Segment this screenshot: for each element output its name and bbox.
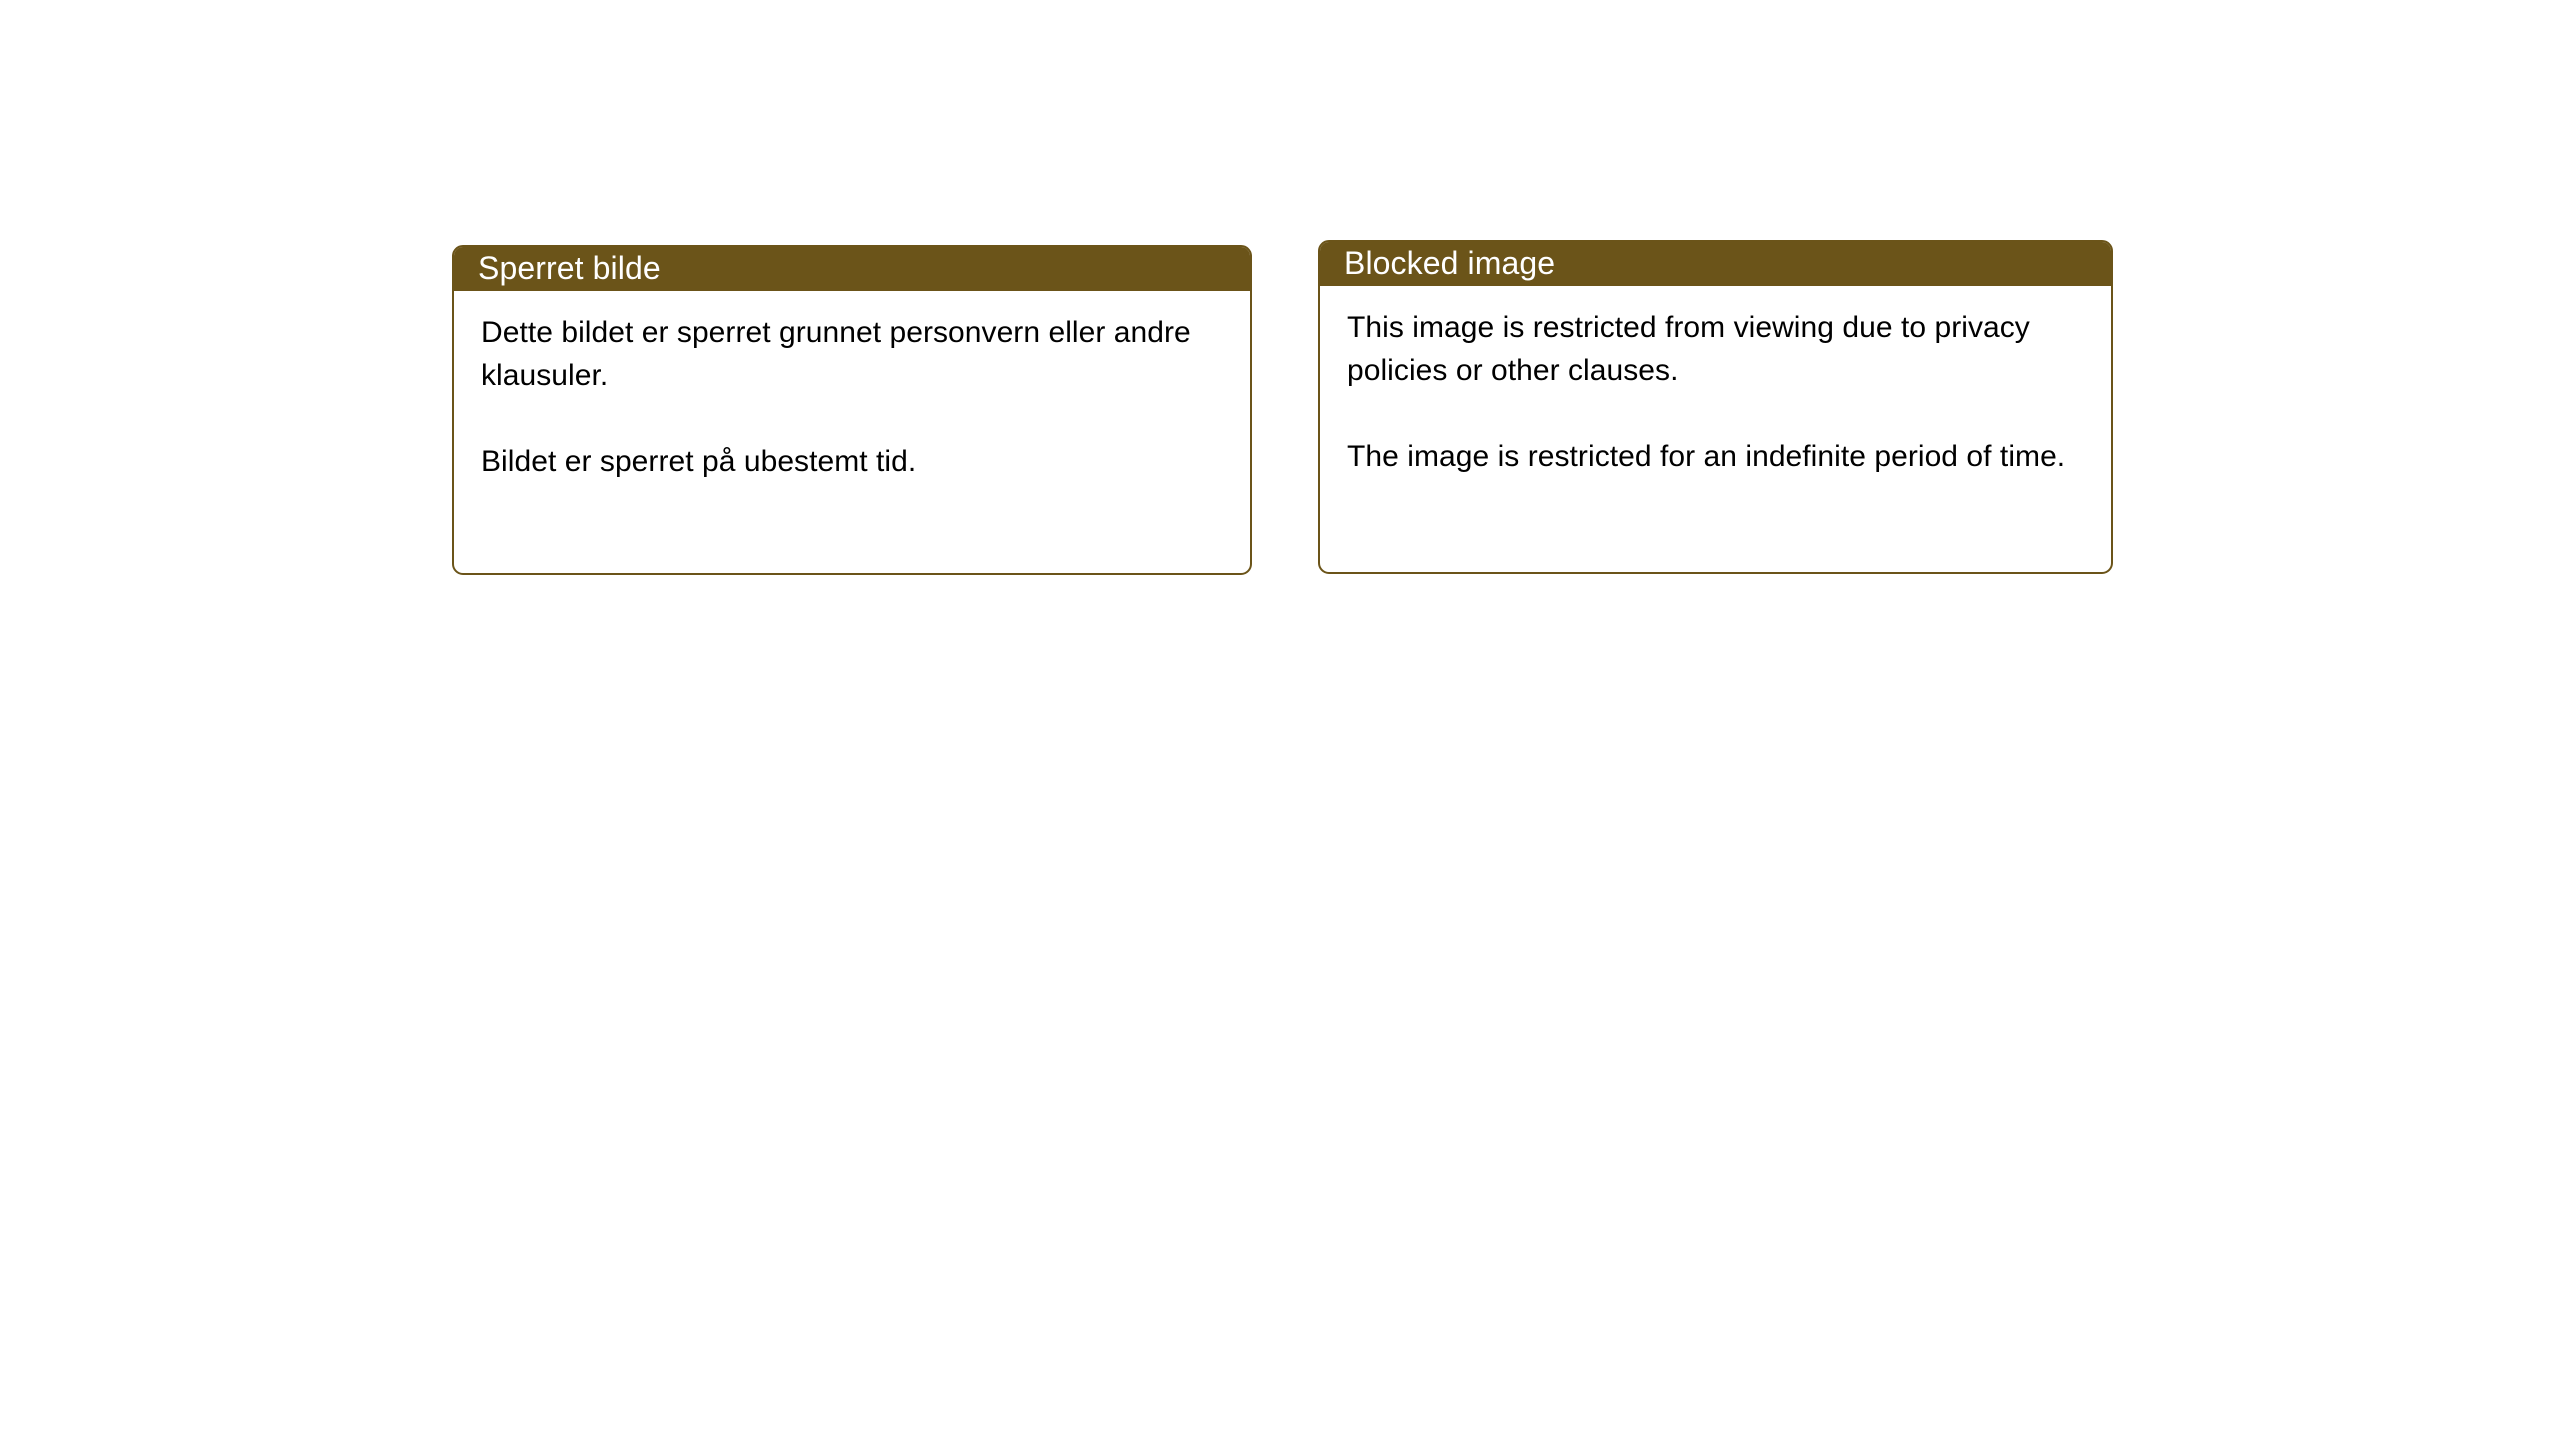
notice-body-norwegian: Dette bildet er sperret grunnet personve… [454,291,1250,483]
notice-paragraph-primary-norwegian: Dette bildet er sperret grunnet personve… [481,311,1226,397]
notice-paragraph-primary-english: This image is restricted from viewing du… [1347,306,2087,392]
notice-body-english: This image is restricted from viewing du… [1320,286,2111,478]
page-canvas: Sperret bilde Dette bildet er sperret gr… [0,0,2560,1440]
blocked-image-notice-norwegian: Sperret bilde Dette bildet er sperret gr… [452,245,1252,575]
notice-title-english: Blocked image [1344,246,1555,280]
notice-paragraph-secondary-english: The image is restricted for an indefinit… [1347,435,2087,478]
notice-header-norwegian: Sperret bilde [452,245,1252,291]
blocked-image-notice-english: Blocked image This image is restricted f… [1318,240,2113,574]
notice-title-norwegian: Sperret bilde [478,251,661,285]
notice-header-english: Blocked image [1318,240,2113,286]
notice-paragraph-secondary-norwegian: Bildet er sperret på ubestemt tid. [481,440,1226,483]
